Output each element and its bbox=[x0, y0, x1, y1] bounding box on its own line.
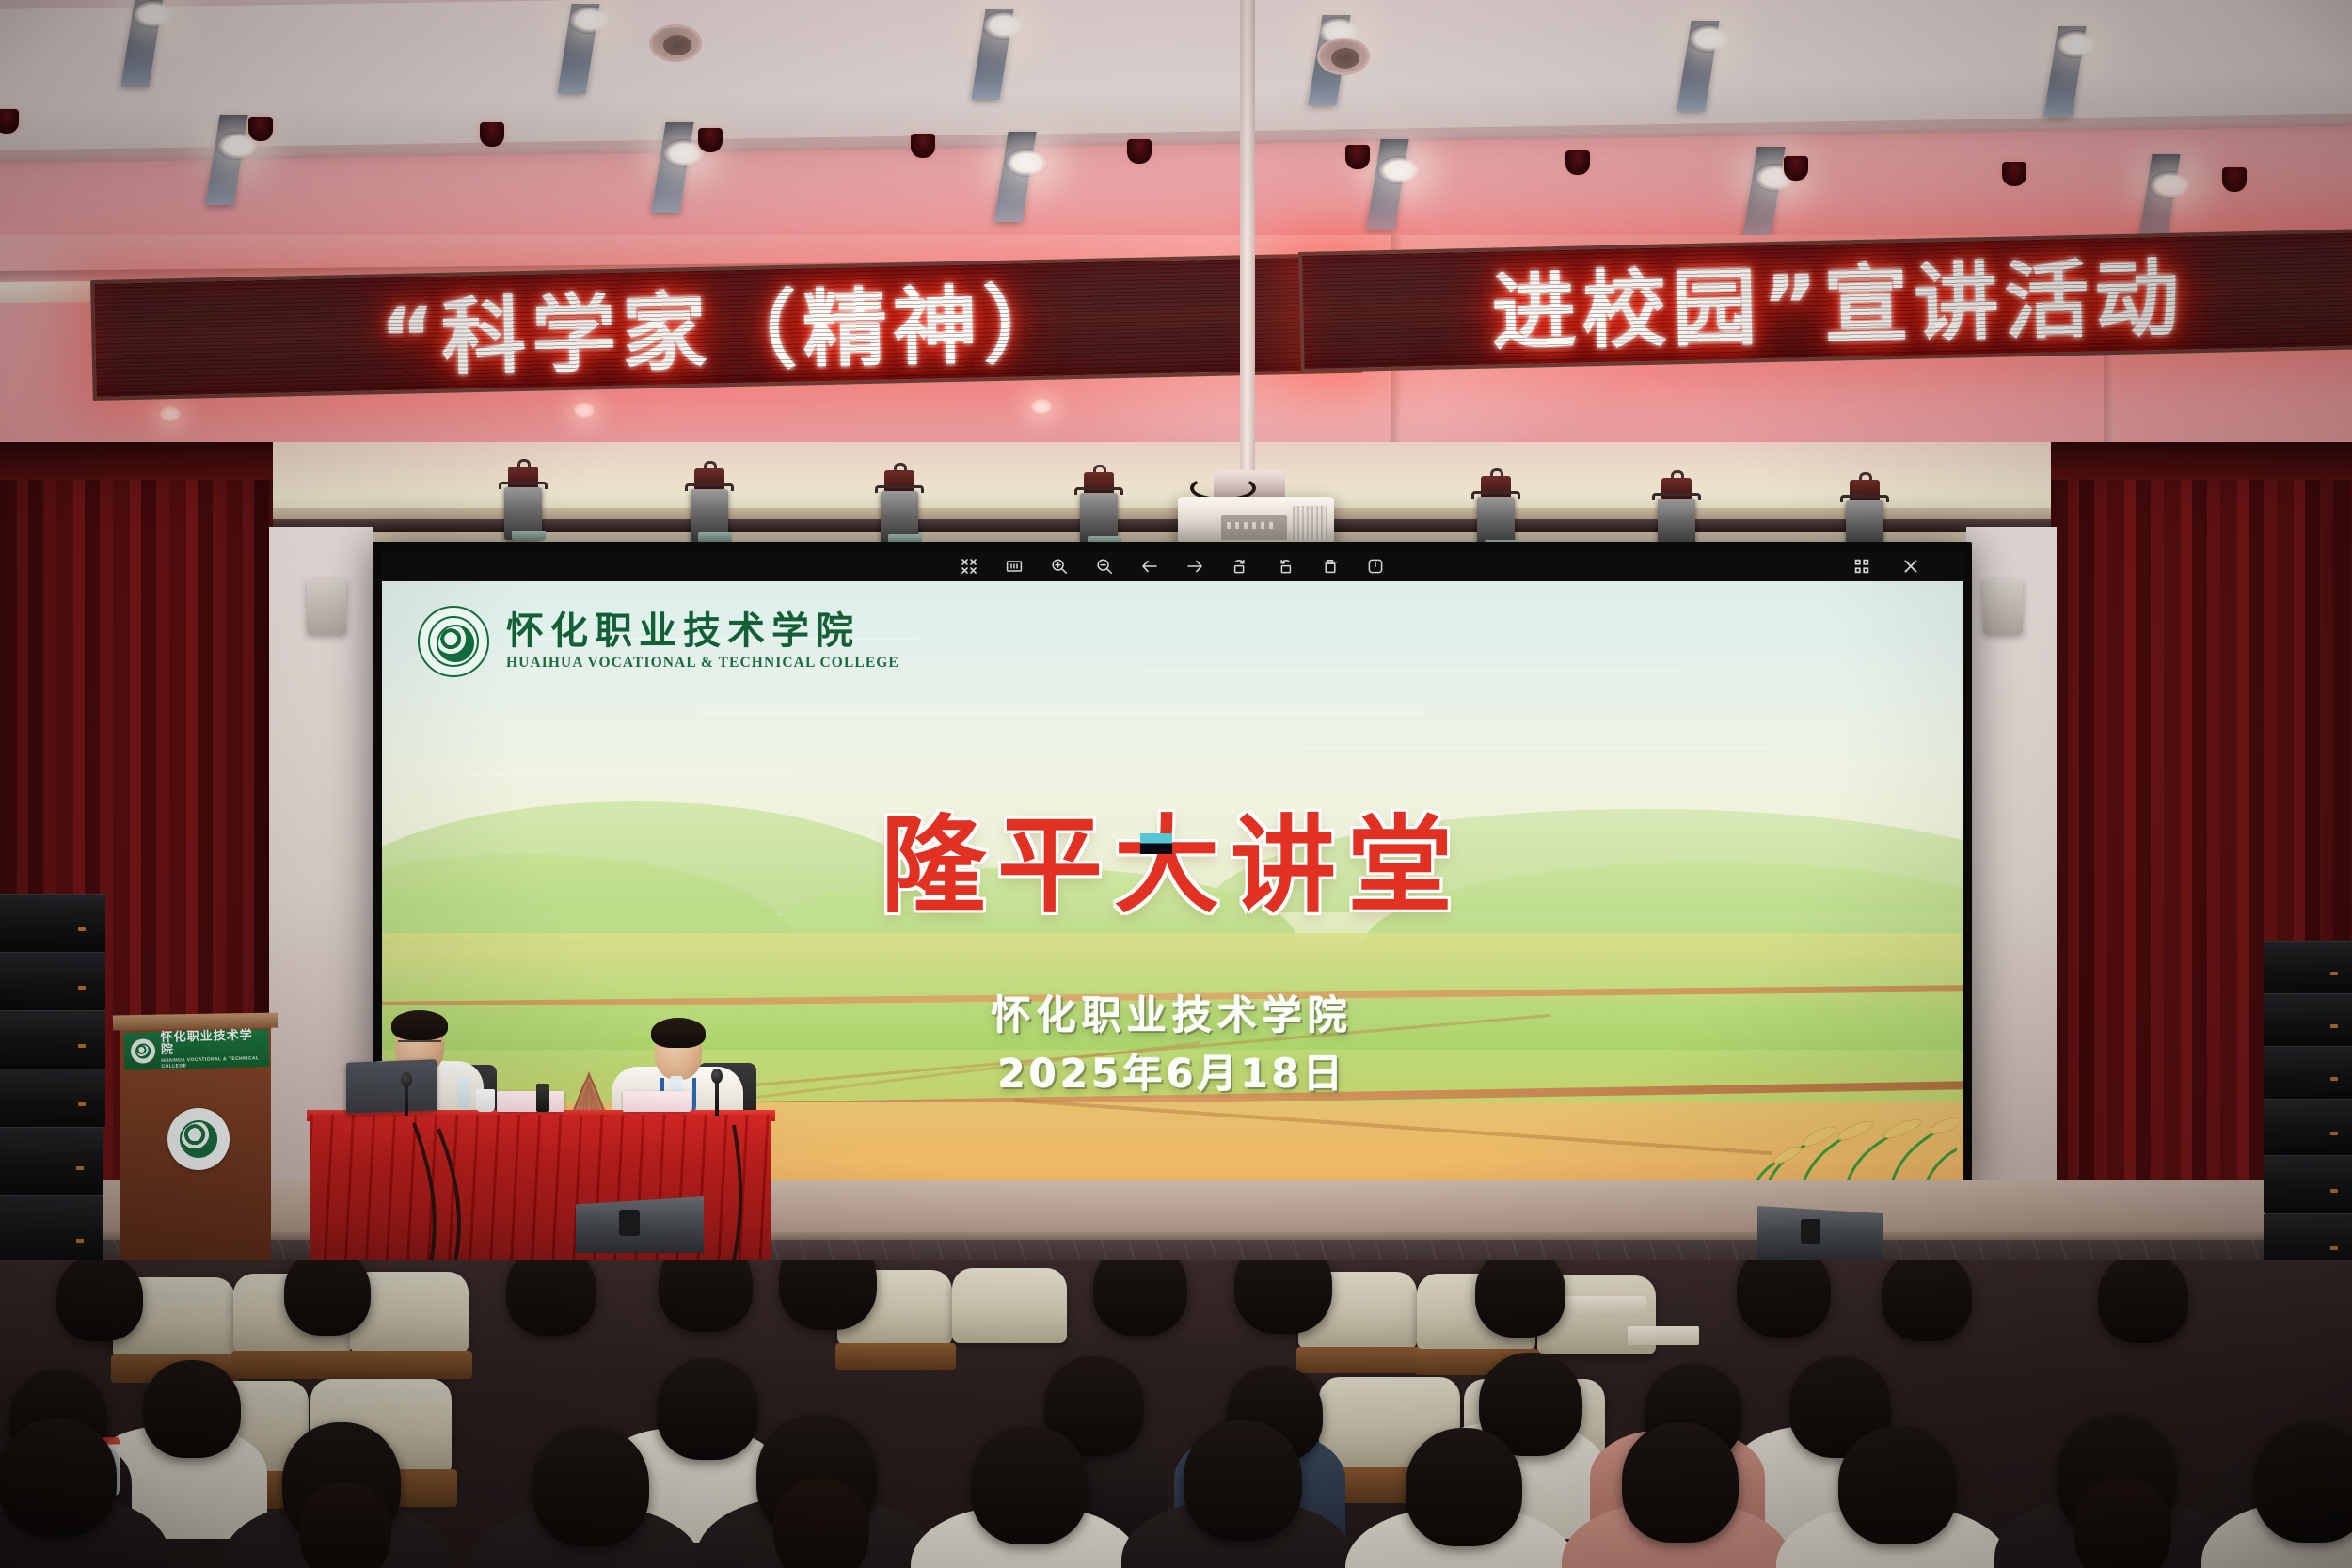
collapse-icon[interactable] bbox=[961, 558, 977, 575]
wall-downlight bbox=[574, 403, 595, 418]
slide-title: 隆平大讲堂 bbox=[382, 781, 1963, 933]
ceiling-vent bbox=[649, 24, 702, 62]
audience-head bbox=[1406, 1428, 1522, 1546]
audience-head bbox=[1838, 1426, 1957, 1544]
audience-head bbox=[56, 1260, 143, 1341]
speaker-box bbox=[2264, 993, 2352, 1046]
slide-date: 2025年6月18日 bbox=[382, 1042, 1963, 1100]
sky-streak bbox=[1298, 747, 1772, 750]
slide-subtitle: 怀化职业技术学院 bbox=[382, 984, 1963, 1041]
ceiling-lamp bbox=[568, 6, 612, 34]
audience-head bbox=[284, 1260, 371, 1336]
ceiling-lamp bbox=[1688, 24, 1731, 53]
podium-top-surface bbox=[113, 1012, 278, 1030]
audience-head bbox=[1184, 1420, 1302, 1541]
led-banner-text-part1: “科学家（精神） bbox=[378, 256, 1074, 393]
chair-frame bbox=[1296, 1347, 1421, 1373]
previous-arrow-icon[interactable] bbox=[1141, 558, 1158, 575]
speaker-box bbox=[0, 952, 105, 1010]
audience-head bbox=[1882, 1260, 1972, 1341]
stage-light bbox=[875, 470, 924, 544]
audience-head bbox=[0, 1418, 117, 1537]
audience-head bbox=[143, 1360, 241, 1458]
college-name-cn: 怀化职业技术学院 bbox=[506, 611, 899, 651]
stage-light bbox=[1652, 478, 1701, 551]
projection-screen[interactable]: 秦 bbox=[373, 542, 1972, 1193]
audience-head bbox=[659, 1260, 753, 1332]
rice-stalk-detail-icon bbox=[1731, 1095, 1957, 1193]
wall-downlight bbox=[160, 406, 181, 421]
next-arrow-icon[interactable] bbox=[1186, 558, 1203, 575]
fit-width-icon[interactable] bbox=[1006, 558, 1023, 575]
auditorium-scene: “科学家（精神） 进校园”宣讲活动 bbox=[0, 0, 2352, 1568]
stage-light bbox=[1074, 472, 1123, 546]
ceiling-speaker bbox=[1784, 156, 1808, 181]
ceiling-lamp bbox=[1005, 149, 1048, 177]
ceiling-speaker bbox=[2002, 162, 2026, 186]
auditorium-chair bbox=[952, 1268, 1067, 1343]
speaker-box bbox=[0, 1010, 105, 1069]
ceiling-speaker bbox=[248, 117, 273, 141]
sky-streak bbox=[1140, 670, 1677, 673]
wall-downlight bbox=[1031, 399, 1052, 414]
ceiling-speaker bbox=[1127, 139, 1152, 164]
audience-head bbox=[971, 1426, 1088, 1544]
ceiling-lamp bbox=[2055, 30, 2098, 58]
podium-front-logo-icon bbox=[167, 1108, 230, 1170]
wall-speaker bbox=[1983, 579, 2023, 634]
ceiling-speaker bbox=[1565, 150, 1590, 175]
stage-curtain-valance bbox=[0, 442, 273, 480]
audience-head bbox=[2098, 1260, 2188, 1343]
ceiling-speaker bbox=[2222, 167, 2247, 192]
audience-head bbox=[2254, 1422, 2352, 1543]
chair-frame bbox=[348, 1351, 472, 1379]
rotate-left-icon[interactable] bbox=[1232, 558, 1248, 575]
field-band bbox=[382, 933, 1963, 971]
stage-monitor-wedge-right bbox=[1757, 1206, 1883, 1260]
ceiling-speaker bbox=[480, 122, 504, 147]
speaker-box bbox=[0, 894, 105, 952]
close-icon[interactable] bbox=[1902, 558, 1919, 575]
toolbar-center-group[interactable] bbox=[961, 558, 1384, 575]
cables bbox=[263, 1119, 847, 1279]
stage-light bbox=[1471, 476, 1520, 549]
zoom-in-icon[interactable] bbox=[1051, 558, 1068, 575]
ceiling-lamp bbox=[1377, 156, 1421, 184]
audience-head bbox=[1093, 1260, 1187, 1336]
ceiling-speaker bbox=[911, 134, 935, 158]
sky-streak bbox=[445, 773, 793, 776]
speaker-box bbox=[0, 1069, 105, 1127]
desk-paper bbox=[1628, 1326, 1699, 1345]
audience-head bbox=[779, 1260, 877, 1330]
ceiling-lamp bbox=[132, 0, 175, 28]
stage-light bbox=[499, 467, 548, 540]
toolbar-right-group[interactable] bbox=[1853, 558, 1919, 575]
expand-grid-icon[interactable] bbox=[1853, 558, 1870, 575]
clock-icon[interactable] bbox=[1367, 558, 1384, 575]
desk-paper bbox=[1565, 1296, 1646, 1317]
ceiling-speaker bbox=[698, 128, 723, 152]
led-banner-right: 进校园”宣讲活动 bbox=[1298, 229, 2352, 372]
audience-head bbox=[657, 1358, 758, 1460]
audience-ponytail bbox=[299, 1482, 391, 1568]
audience-head bbox=[506, 1260, 596, 1336]
speaker-box bbox=[2264, 941, 2352, 993]
audience-ponytail bbox=[773, 1479, 869, 1568]
audience-head bbox=[1622, 1422, 1739, 1543]
podium-seal-icon bbox=[131, 1038, 156, 1064]
ceiling-lamp bbox=[982, 11, 1025, 40]
sky-streak bbox=[698, 711, 1425, 714]
line-array-speaker-stack-right bbox=[2264, 941, 2352, 1270]
speaker-box bbox=[2264, 1046, 2352, 1099]
speaker-box bbox=[0, 1195, 103, 1270]
stage-curtain-valance bbox=[2051, 442, 2352, 480]
projector-vent bbox=[1293, 506, 1327, 540]
delete-icon[interactable] bbox=[1322, 558, 1339, 575]
audience-head bbox=[1737, 1260, 1831, 1338]
slide-logo: 怀化职业技术学院 HUAIHUA VOCATIONAL & TECHNICAL … bbox=[418, 606, 899, 677]
led-banner-text-part2: 进校园”宣讲活动 bbox=[1490, 230, 2186, 367]
zoom-out-icon[interactable] bbox=[1096, 558, 1113, 575]
rotate-right-icon[interactable] bbox=[1277, 558, 1294, 575]
ceiling-vent bbox=[1317, 38, 1370, 75]
ceiling-speaker bbox=[1345, 145, 1370, 169]
audience-head bbox=[1475, 1260, 1565, 1338]
speaker-box bbox=[2264, 1099, 2352, 1155]
audience-head bbox=[1234, 1260, 1332, 1334]
projector-mount-pole bbox=[1240, 0, 1255, 500]
audience-ponytail bbox=[2074, 1479, 2171, 1568]
chair-frame bbox=[231, 1351, 356, 1379]
audience-head bbox=[532, 1426, 649, 1546]
ceiling-lamp bbox=[2149, 171, 2192, 199]
projector-control-panel bbox=[1221, 515, 1287, 540]
college-name-en: HUAIHUA VOCATIONAL & TECHNICAL COLLEGE bbox=[506, 655, 899, 672]
podium-sign-text-cn: 怀化职业技术学院 bbox=[160, 1029, 262, 1056]
speaker-box bbox=[0, 1127, 103, 1195]
title-glitch-artifact bbox=[1140, 833, 1172, 854]
podium-sign: 怀化职业技术学院 HUAIHUA VOCATIONAL & TECHNICAL … bbox=[124, 1029, 270, 1070]
chair-frame bbox=[835, 1343, 956, 1370]
image-viewer-toolbar[interactable] bbox=[382, 551, 1963, 581]
stage-monitor-wedge-left bbox=[576, 1196, 704, 1253]
speaker-box bbox=[2264, 1155, 2352, 1213]
stage-light bbox=[685, 468, 734, 542]
wall-speaker bbox=[307, 579, 346, 634]
audience-seating bbox=[0, 1260, 2352, 1568]
college-seal-icon bbox=[418, 606, 489, 677]
line-array-speaker-stack-left bbox=[0, 894, 109, 1270]
